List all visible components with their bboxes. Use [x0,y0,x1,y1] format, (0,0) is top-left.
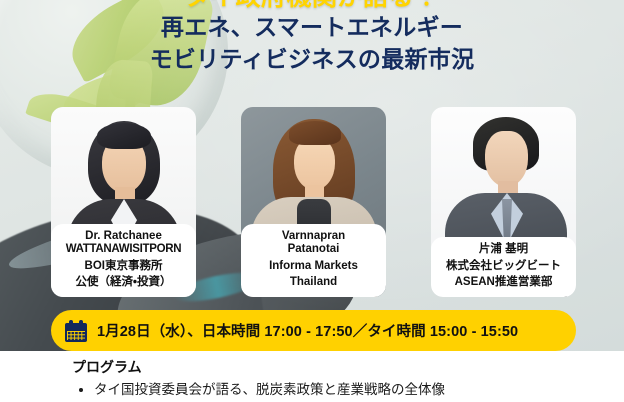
speaker-card-1[interactable]: Dr. Ratchanee WATTANAWISITPORN BOI東京事務所 … [51,107,196,297]
title-kicker: タイ政府機関が語る！ [0,0,624,10]
speaker-name-line1-3: 片浦 基明 [433,243,574,257]
speaker-org-line2-1: 公使（経済・投資） [53,276,194,290]
speaker-name-line2-1: WATTANAWISITPORN [53,243,194,257]
title-line-1: 再エネ、スマートエネルギー [0,12,624,43]
speaker-label-1: Dr. Ratchanee WATTANAWISITPORN BOI東京事務所 … [51,224,196,297]
speaker-org-line1-2: Informa Markets [243,260,384,274]
program-item-list: タイ国投資委員会が語る、脱炭素政策と産業戦略の全体像 [72,380,624,401]
speaker-card-list: Dr. Ratchanee WATTANAWISITPORN BOI東京事務所 … [51,107,576,297]
speaker-org-line2-2: Thailand [243,276,384,290]
speaker-name-line2-2: Patanotai [243,243,384,257]
speaker-org-line1-3: 株式会社ビッグビート [433,260,574,274]
speaker-label-3: 片浦 基明 株式会社ビッグビート ASEAN推進営業部 [431,237,576,297]
speaker-name-line1-2: Varnnapran [243,230,384,244]
calendar-icon [65,320,87,342]
speaker-card-3[interactable]: 片浦 基明 株式会社ビッグビート ASEAN推進営業部 [431,107,576,297]
date-time-text: 1月28日（水）、日本時間 17:00 - 17:50／タイ時間 15:00 -… [97,320,518,341]
speaker-org-line2-3: ASEAN推進営業部 [433,276,574,290]
hero-titles: タイ政府機関が語る！ 再エネ、スマートエネルギー モビリティビジネスの最新市況 [0,0,624,75]
webinar-banner-page: タイ政府機関が語る！ 再エネ、スマートエネルギー モビリティビジネスの最新市況 … [0,0,624,402]
program-section: プログラム タイ国投資委員会が語る、脱炭素政策と産業戦略の全体像 [0,351,624,401]
date-time-banner: 1月28日（水）、日本時間 17:00 - 17:50／タイ時間 15:00 -… [51,310,576,351]
program-list-item: タイ国投資委員会が語る、脱炭素政策と産業戦略の全体像 [94,380,624,401]
program-heading: プログラム [72,357,624,377]
speaker-org-line1-1: BOI東京事務所 [53,260,194,274]
page-title: 再エネ、スマートエネルギー モビリティビジネスの最新市況 [0,12,624,75]
speaker-card-2[interactable]: Varnnapran Patanotai Informa Markets Tha… [241,107,386,297]
speaker-label-2: Varnnapran Patanotai Informa Markets Tha… [241,224,386,297]
title-line-2: モビリティビジネスの最新市況 [0,44,624,75]
speaker-name-line1-1: Dr. Ratchanee [53,230,194,244]
